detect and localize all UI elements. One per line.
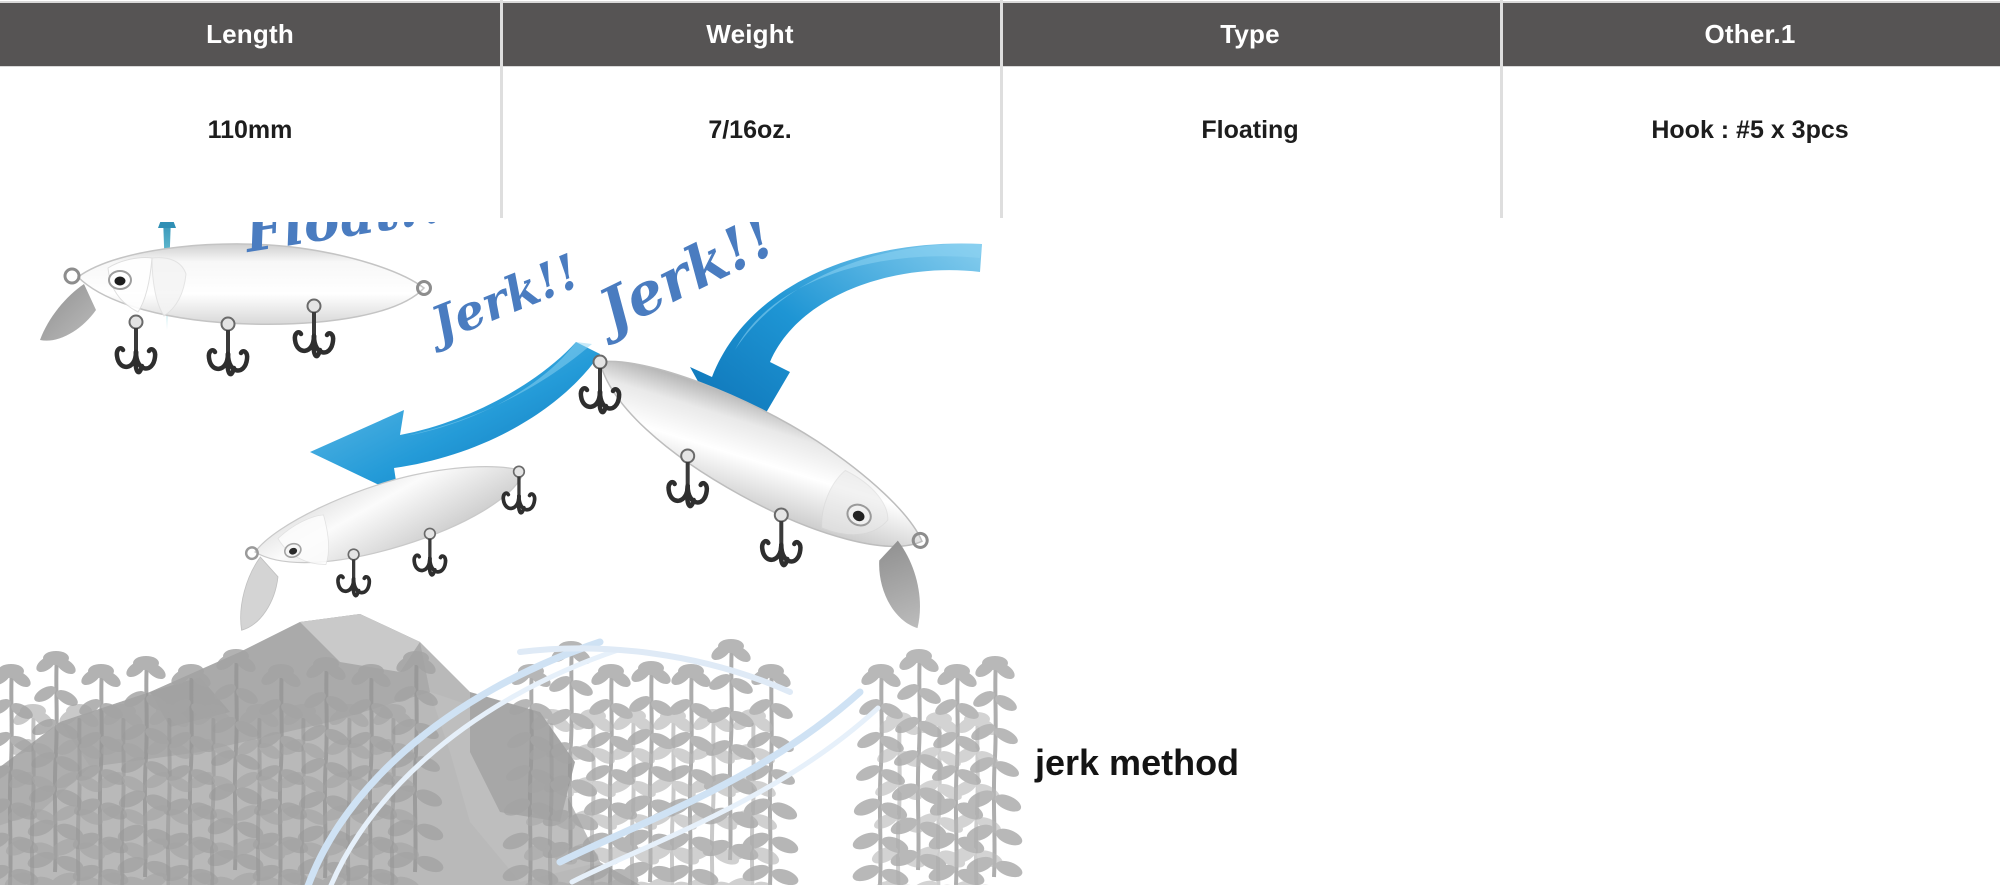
cell-length: 110mm bbox=[0, 66, 500, 218]
spec-table-row: 110mm 7/16oz. Floating Hook : #5 x 3pcs bbox=[0, 66, 2000, 218]
cell-type: Floating bbox=[1000, 66, 1500, 218]
column-header-length: Length bbox=[0, 3, 500, 66]
callout-jerk-left: Jerk!! bbox=[416, 244, 587, 357]
callout-jerk-left-text: Jerk!! bbox=[416, 244, 587, 357]
cell-weight: 7/16oz. bbox=[500, 66, 1000, 218]
column-header-type: Type bbox=[1000, 3, 1500, 66]
illustration-svg: Float!! Jerk!! Jerk!! bbox=[0, 222, 2000, 885]
lure-floating bbox=[40, 244, 431, 374]
weed-cluster-right bbox=[850, 649, 1024, 885]
underwater-scene bbox=[0, 614, 1025, 885]
column-header-weight: Weight bbox=[500, 3, 1000, 66]
jerk-method-label: jerk method bbox=[1035, 742, 1239, 784]
column-header-other-1: Other.1 bbox=[1500, 3, 2000, 66]
spec-table: Length Weight Type Other.1 110mm 7/16oz.… bbox=[0, 0, 2000, 220]
cell-other-1: Hook : #5 x 3pcs bbox=[1500, 66, 2000, 218]
jerk-method-illustration: Float!! Jerk!! Jerk!! jerk method bbox=[0, 222, 2000, 885]
